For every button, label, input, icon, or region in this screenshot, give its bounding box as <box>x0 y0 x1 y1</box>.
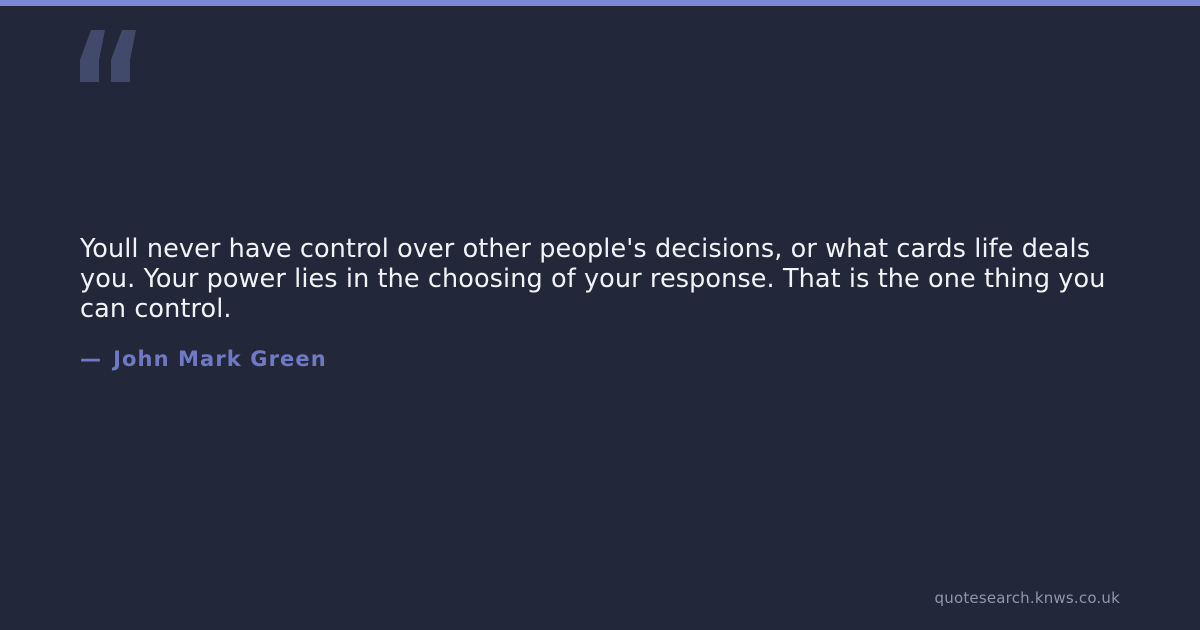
author-dash: — <box>80 347 102 371</box>
quote-text: Youll never have control over other peop… <box>80 234 1120 324</box>
quote-author: — John Mark Green <box>80 347 327 371</box>
top-accent-bar <box>0 0 1200 6</box>
quote-card: Youll never have control over other peop… <box>0 0 1200 630</box>
author-name: John Mark Green <box>113 347 327 371</box>
double-quotation-mark-icon <box>78 28 148 88</box>
source-url[interactable]: quotesearch.knws.co.uk <box>935 589 1120 607</box>
